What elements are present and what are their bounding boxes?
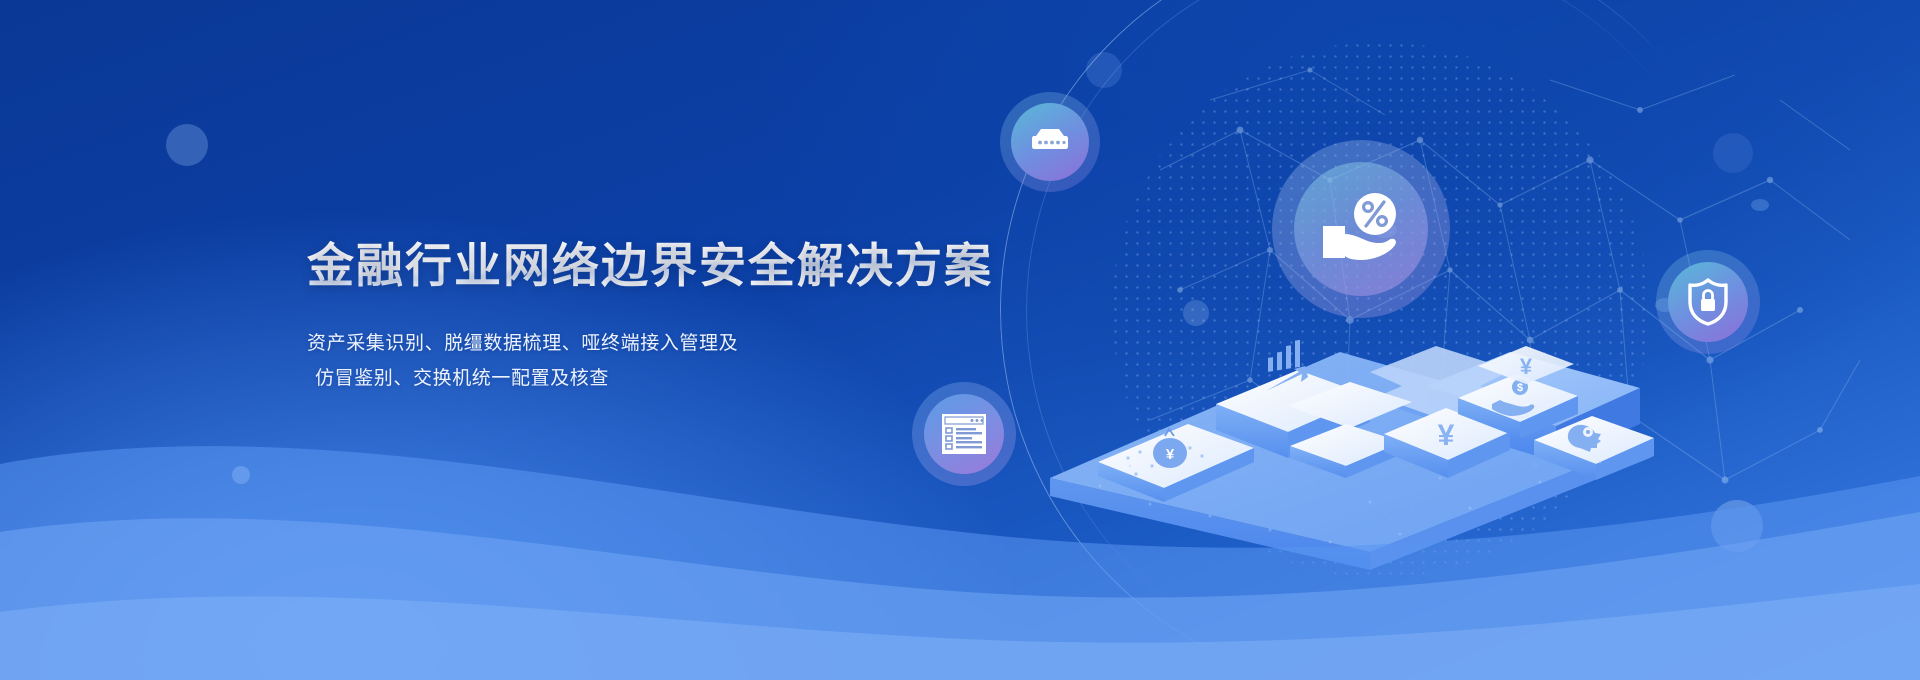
badge-network-switch	[1000, 92, 1100, 192]
finance-security-hero-banner: ¥	[0, 0, 1920, 680]
hand-holding-percent-icon	[1309, 192, 1413, 266]
bokeh-circle	[166, 124, 208, 166]
yuan-symbol-raised-icon: ¥	[1520, 354, 1533, 379]
page-title: 金融行业网络边界安全解决方案	[307, 238, 1067, 293]
hero-copy-block: 金融行业网络边界安全解决方案 资产采集识别、脱缰数据梳理、哑终端接入管理及 仿冒…	[307, 238, 1067, 397]
shield-lock-icon	[1686, 277, 1730, 327]
page-subtitle: 资产采集识别、脱缰数据梳理、哑终端接入管理及 仿冒鉴别、交换机统一配置及核查	[307, 327, 1067, 396]
subtitle-line-1: 资产采集识别、脱缰数据梳理、哑终端接入管理及	[307, 327, 1067, 362]
badge-shield-lock	[1656, 250, 1760, 354]
network-switch-icon	[1027, 127, 1073, 157]
bokeh-circle	[1086, 52, 1122, 88]
checklist-window-icon	[940, 412, 988, 456]
subtitle-line-2: 仿冒鉴别、交换机统一配置及核查	[307, 362, 1067, 397]
